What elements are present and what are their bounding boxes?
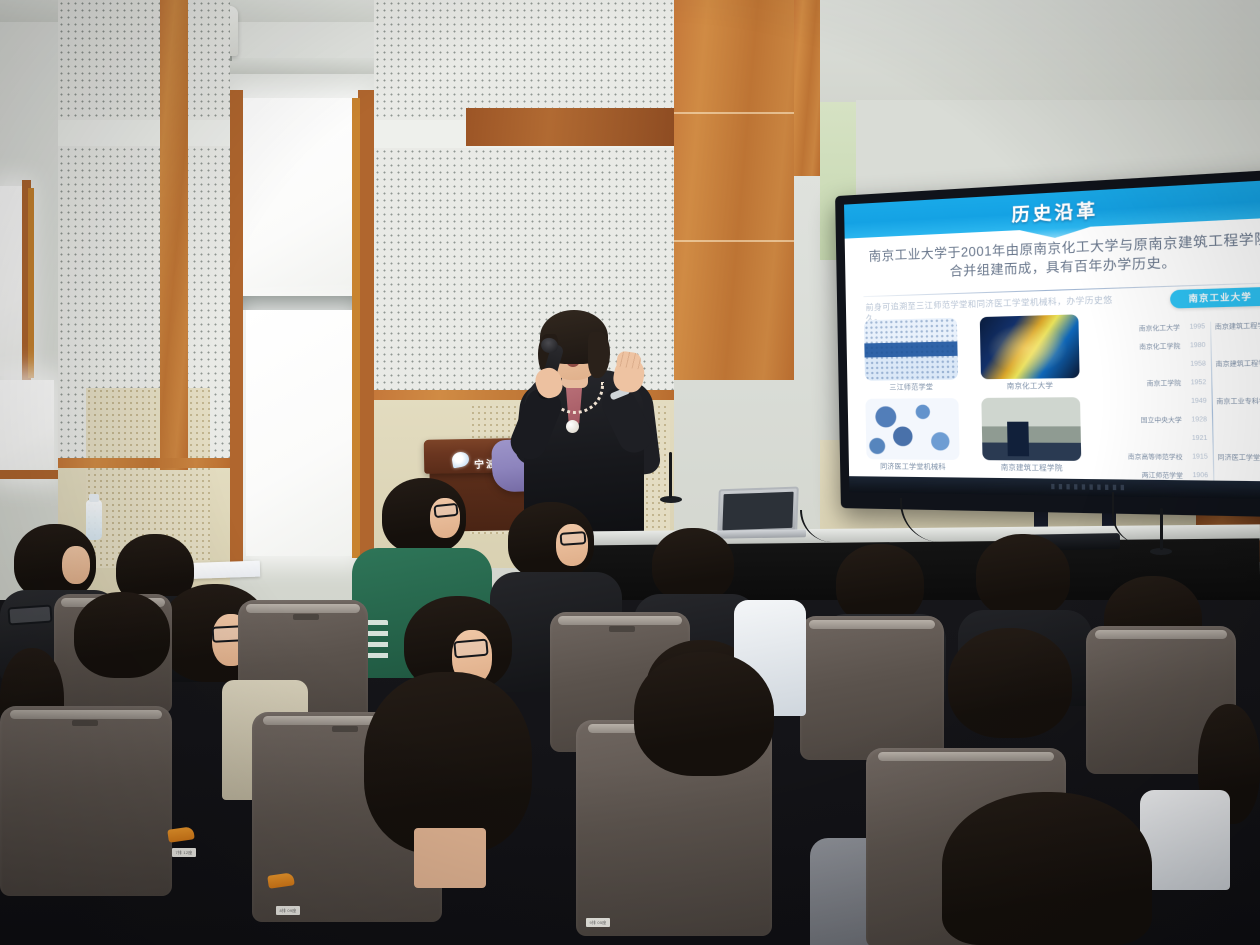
- photo-caption-2: 南京化工大学: [981, 380, 1080, 392]
- acoustic-panel-upper-mid: [374, 0, 674, 120]
- presentation-display[interactable]: 历史沿革 南京工业大学于2001年由原南京化工大学与原南京建筑工程学院 合并组建…: [835, 169, 1260, 518]
- timeline-year: 1915: [1187, 454, 1213, 461]
- timeline-left: 南京化工大学: [1125, 322, 1184, 333]
- timeline-row: 南京工学院 1952: [1126, 372, 1260, 392]
- head: [652, 528, 734, 602]
- timeline-left: 国立中央大学: [1127, 415, 1186, 425]
- door-frame-glow: [352, 98, 360, 558]
- timeline-row: 国立中央大学 1928: [1127, 410, 1260, 429]
- head: [836, 544, 924, 624]
- slide-lead-text: 南京工业大学于2001年由原南京化工大学与原南京建筑工程学院 合并组建而成，具有…: [863, 229, 1260, 285]
- seat-back: [800, 616, 944, 760]
- photo-row-1: 三江师范学堂 南京化工大学: [864, 313, 1127, 393]
- wood-column-far-right: [794, 0, 820, 176]
- seat-headrest-cap: [10, 710, 161, 719]
- head: [976, 534, 1070, 618]
- wood-panel-right: [466, 108, 674, 146]
- photo-cell-1: 三江师范学堂: [864, 318, 958, 393]
- tv-screen: 历史沿革 南京工业大学于2001年由原南京化工大学与原南京建筑工程学院 合并组建…: [844, 179, 1260, 499]
- seat-tab: [332, 726, 358, 732]
- timeline-left: 南京高等师范学校: [1128, 452, 1187, 462]
- bottle-cap: [89, 494, 99, 502]
- face: [62, 546, 90, 584]
- slide-photo-grid: 三江师范学堂 南京化工大学 同济医工学堂机械科: [864, 313, 1128, 481]
- photo-caption-4: 南京建筑工程学院: [983, 462, 1082, 473]
- head: [948, 628, 1072, 738]
- seat-headrest-cap: [809, 620, 936, 629]
- timeline-year: 1928: [1186, 416, 1212, 423]
- wood-column-center: [674, 0, 794, 380]
- wall-neutral-right: [820, 0, 1260, 102]
- historic-photo-4: [981, 397, 1081, 461]
- timeline-right: [1210, 344, 1260, 345]
- tv-bezel: 历史沿革 南京工业大学于2001年由原南京化工大学与原南京建筑工程学院 合并组建…: [835, 169, 1260, 518]
- slide-timeline: 南京化工大学 1995 南京建筑工程学院 南京化工学院 1980 1958: [1125, 315, 1260, 499]
- head: [74, 592, 170, 678]
- timeline-left: 南京工学院: [1126, 378, 1185, 388]
- seat-headrest-cap: [1095, 630, 1227, 639]
- photo-cell-3: 同济医工学堂机械科: [865, 398, 959, 472]
- window-frame-left-inner: [28, 188, 34, 378]
- timeline-row: 1949 南京工业专科学校: [1127, 391, 1260, 411]
- seat-tab: [609, 626, 635, 632]
- window-left-outer: [0, 186, 24, 376]
- wood-column-left: [160, 0, 188, 470]
- seat-headrest-cap: [878, 752, 1054, 761]
- timeline-year: 1958: [1185, 361, 1211, 368]
- presenter-pendant: [566, 420, 579, 433]
- head: [942, 792, 1152, 945]
- timeline-right: 南京建筑工程学校: [1211, 358, 1260, 369]
- laptop[interactable]: [717, 487, 799, 536]
- timeline-right: [1211, 382, 1260, 383]
- timeline-year: 1921: [1187, 435, 1213, 442]
- timeline-right: 同济医工学堂机械科: [1213, 452, 1260, 462]
- timeline-year: 1949: [1186, 398, 1212, 405]
- photo-caption-3: 同济医工学堂机械科: [867, 461, 960, 472]
- wood-rail-left: [58, 458, 230, 468]
- white-sleeve-student: [1140, 790, 1230, 890]
- seat-number-label: 7排 12座: [172, 848, 196, 857]
- timeline-right: 南京工业专科学校: [1212, 396, 1260, 406]
- photo-caption-1: 三江师范学堂: [865, 382, 958, 393]
- neck: [414, 828, 486, 888]
- timeline-year: 1906: [1187, 472, 1213, 479]
- historic-photo-2: [980, 314, 1080, 379]
- eyeglasses: [433, 503, 458, 518]
- auditorium-seat[interactable]: [0, 706, 172, 896]
- wood-seam-2: [674, 240, 794, 242]
- photo-cell-4: 南京建筑工程学院: [981, 397, 1081, 474]
- timeline-left: [1126, 364, 1185, 365]
- photo-cell-2: 南京化工大学: [980, 314, 1080, 391]
- seat-tab: [72, 720, 98, 726]
- head: [364, 672, 532, 854]
- gooseneck-microphone-2: [1160, 508, 1163, 550]
- window-sill-left: [0, 470, 60, 479]
- water-bottle: [86, 500, 102, 540]
- lecture-hall-photo: 历史沿革 南京工业大学于2001年由原南京化工大学与原南京建筑工程学院 合并组建…: [0, 0, 1260, 945]
- timeline-row: 南京化工学院 1980: [1125, 334, 1260, 356]
- gooseneck-microphone: [669, 452, 672, 498]
- timeline-right: [1213, 476, 1260, 477]
- historic-photo-3: [865, 398, 959, 460]
- slide: 历史沿革 南京工业大学于2001年由原南京化工大学与原南京建筑工程学院 合并组建…: [844, 179, 1260, 499]
- seat-number-label: 8排 09座: [276, 906, 300, 915]
- auditorium-seat[interactable]: [800, 616, 944, 760]
- acoustic-panel-upper-left: [58, 0, 230, 120]
- tv-indicator-icon: [1051, 484, 1124, 490]
- door-frame-right: [358, 90, 374, 566]
- wood-seam: [674, 112, 794, 114]
- timeline-row: 1921: [1127, 429, 1260, 448]
- seat-headrest-cap: [558, 616, 681, 625]
- photo-row-2: 同济医工学堂机械科 南京建筑工程学院: [865, 397, 1128, 474]
- door-header-valance: [204, 58, 400, 74]
- door-frame-left: [228, 90, 243, 566]
- head: [634, 652, 774, 776]
- window-door-glass: [240, 98, 360, 296]
- timeline-left: 南京化工学院: [1126, 341, 1185, 352]
- seat-headrest-cap: [246, 604, 360, 613]
- timeline-year: 1980: [1185, 342, 1211, 349]
- timeline-year: 1995: [1184, 323, 1210, 330]
- seat-tab: [293, 614, 319, 620]
- timeline-row: 1958 南京建筑工程学校: [1126, 353, 1260, 374]
- eyeglasses: [453, 639, 488, 659]
- seat-back: [0, 706, 172, 896]
- laptop-keyboard-base[interactable]: [712, 529, 806, 539]
- historic-photo-1: [864, 318, 958, 381]
- seat-number-label: 9排 05座: [586, 918, 610, 927]
- eyeglasses: [7, 604, 52, 625]
- panel-band-left: [58, 120, 230, 146]
- window-lower-glass: [246, 310, 354, 556]
- tv-chin: [849, 476, 1260, 499]
- laptop-screen-panel: [722, 492, 793, 531]
- university-badge: 南京工业大学: [1170, 287, 1260, 309]
- window-left-wide: [0, 380, 54, 476]
- eyeglasses: [560, 531, 587, 546]
- timeline-right: 南京建筑工程学院: [1210, 320, 1260, 332]
- timeline-row: 南京高等师范学校 1915 同济医工学堂机械科: [1128, 447, 1260, 467]
- timeline-year: 1952: [1186, 379, 1212, 386]
- window-mullion: [238, 296, 364, 310]
